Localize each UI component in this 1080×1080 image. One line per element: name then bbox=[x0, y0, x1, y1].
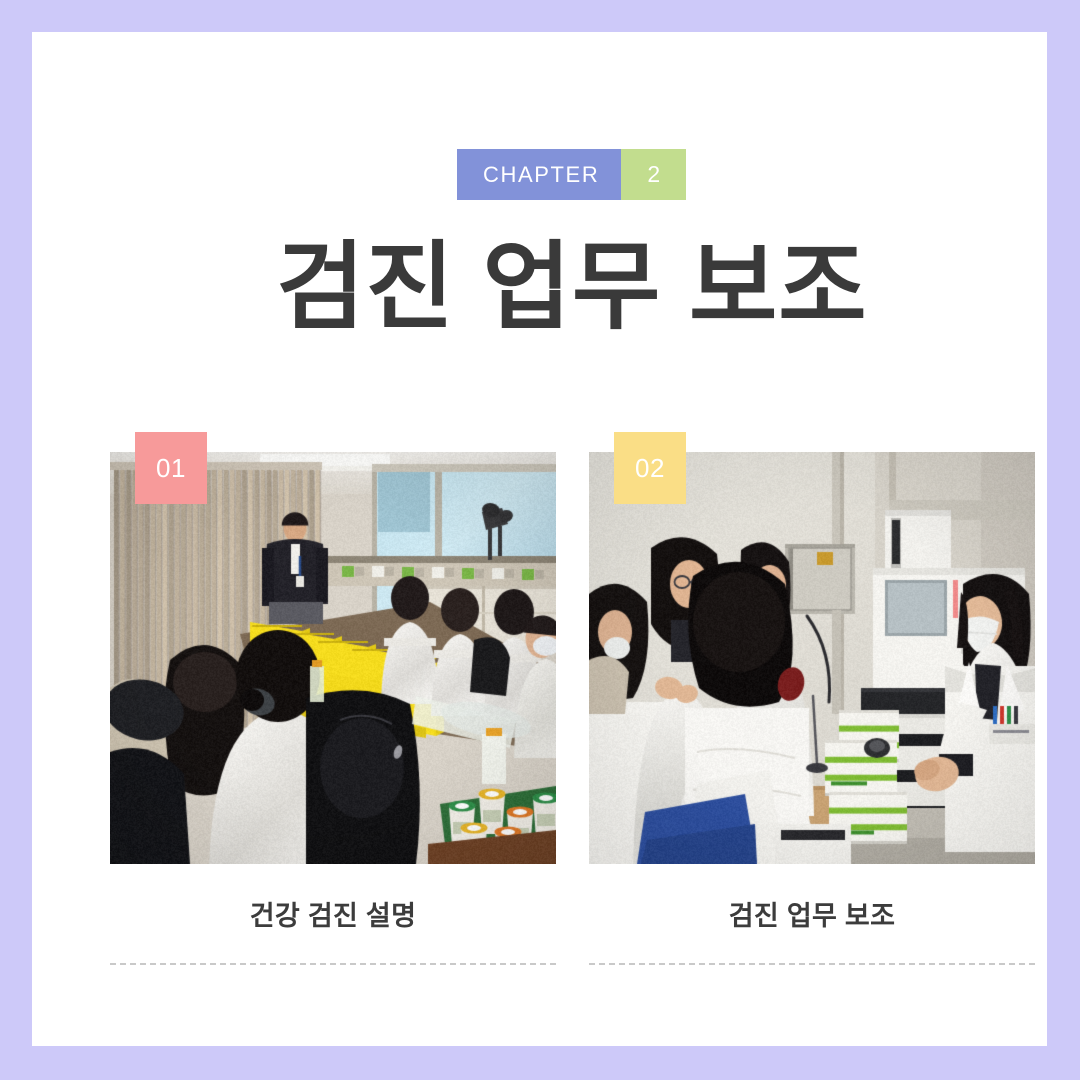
chapter-label: CHAPTER bbox=[457, 149, 621, 200]
photo-frame-01 bbox=[110, 452, 556, 864]
photo-frame-02 bbox=[589, 452, 1035, 864]
photo-card-02: 02 검진 업무 보조 bbox=[589, 432, 1035, 965]
photo-caption-01: 건강 검진 설명 bbox=[110, 894, 556, 933]
photo-card-row: 01 건강 검진 설명 02 검진 업무 보조 bbox=[110, 432, 1035, 965]
content-card: CHAPTER 2 검진 업무 보조 01 건강 검진 설명 02 bbox=[32, 32, 1047, 1046]
chapter-badge: CHAPTER 2 bbox=[457, 149, 686, 200]
number-badge-01: 01 bbox=[135, 432, 207, 504]
divider-02 bbox=[589, 963, 1035, 965]
chapter-number: 2 bbox=[621, 149, 686, 200]
number-badge-02: 02 bbox=[614, 432, 686, 504]
photo-image-01 bbox=[110, 452, 556, 864]
divider-01 bbox=[110, 963, 556, 965]
photo-image-02 bbox=[589, 452, 1035, 864]
page-frame: CHAPTER 2 검진 업무 보조 01 건강 검진 설명 02 bbox=[0, 0, 1080, 1080]
page-title: 검진 업무 보조 bbox=[32, 228, 1080, 348]
photo-caption-02: 검진 업무 보조 bbox=[589, 894, 1035, 933]
photo-card-01: 01 건강 검진 설명 bbox=[110, 432, 556, 965]
